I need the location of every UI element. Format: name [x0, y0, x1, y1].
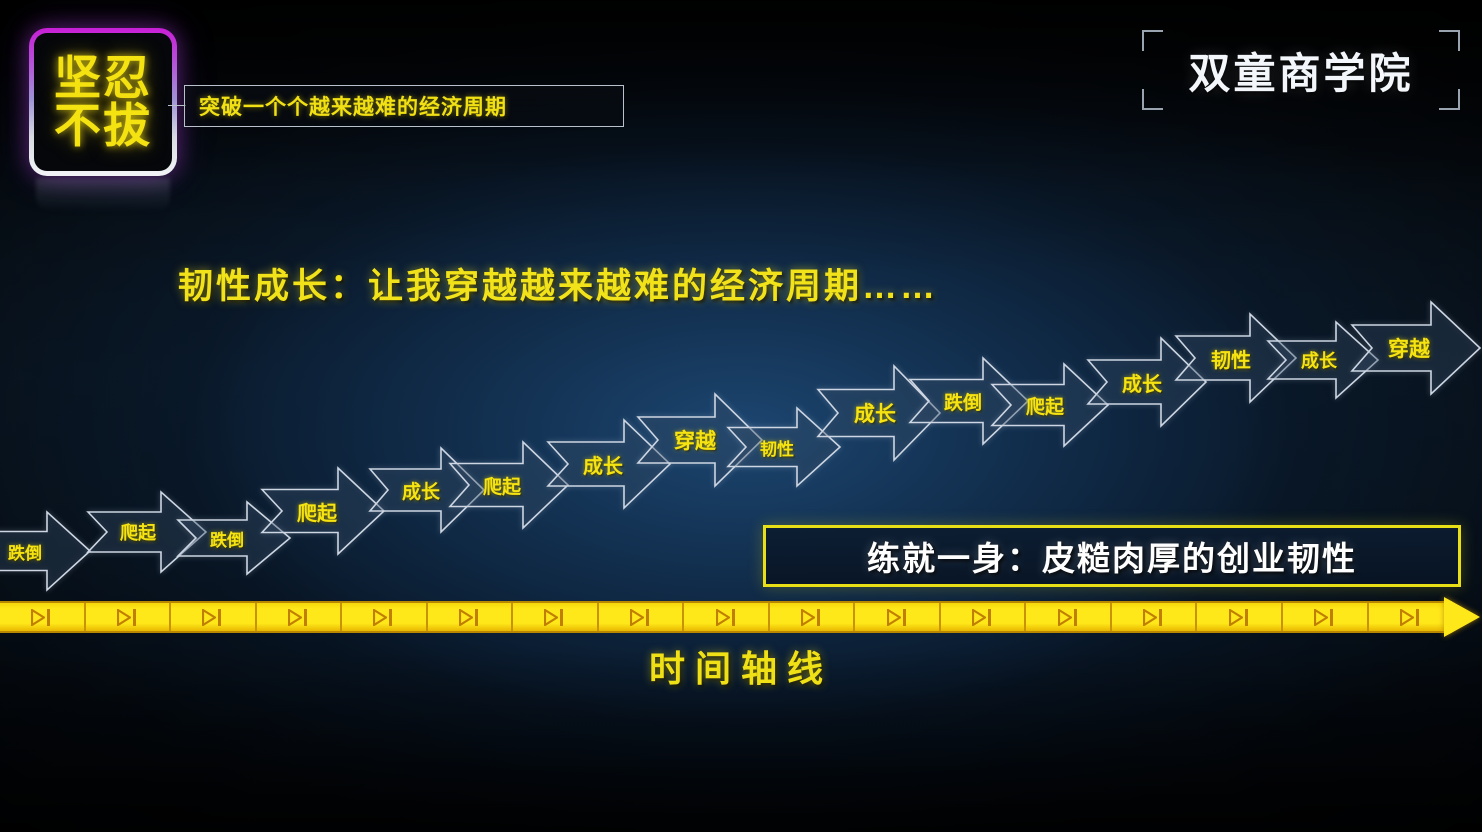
marker-bar-icon	[475, 609, 478, 626]
play-marker-icon	[1143, 609, 1164, 626]
marker-bar-icon	[1074, 609, 1077, 626]
triangle-icon	[1400, 609, 1414, 626]
timeline-segment	[941, 603, 1027, 631]
arrow-step: 穿越	[1352, 302, 1480, 394]
arrow-shape-icon	[1352, 302, 1480, 394]
badge-perseverance: 坚忍 不拔	[29, 28, 177, 176]
timeline-axis	[0, 601, 1482, 633]
arrow-shape-icon	[262, 468, 384, 554]
marker-bar-icon	[389, 609, 392, 626]
marker-bar-icon	[903, 609, 906, 626]
timeline-segment	[428, 603, 514, 631]
play-marker-icon	[972, 609, 993, 626]
arrow-step: 爬起	[262, 468, 384, 554]
triangle-icon	[972, 609, 986, 626]
timeline-bar	[0, 601, 1452, 633]
play-marker-icon	[1058, 609, 1079, 626]
badge-reflection	[36, 178, 170, 212]
triangle-icon	[459, 609, 473, 626]
timeline-segment	[342, 603, 428, 631]
badge-line-2: 不拔	[54, 102, 152, 150]
play-marker-icon	[716, 609, 737, 626]
play-marker-icon	[288, 609, 309, 626]
marker-bar-icon	[47, 609, 50, 626]
badge-inner: 坚忍 不拔	[34, 33, 172, 171]
timeline-segment	[599, 603, 685, 631]
callout-box: 练就一身：皮糙肉厚的创业韧性	[763, 525, 1461, 587]
marker-bar-icon	[1330, 609, 1333, 626]
play-marker-icon	[1314, 609, 1335, 626]
marker-bar-icon	[646, 609, 649, 626]
timeline-segment	[1369, 603, 1453, 631]
marker-bar-icon	[218, 609, 221, 626]
play-marker-icon	[630, 609, 651, 626]
timeline-segment	[0, 603, 86, 631]
timeline-segment	[855, 603, 941, 631]
play-marker-icon	[887, 609, 908, 626]
triangle-icon	[373, 609, 387, 626]
triangle-icon	[801, 609, 815, 626]
play-marker-icon	[459, 609, 480, 626]
play-marker-icon	[801, 609, 822, 626]
play-marker-icon	[1229, 609, 1250, 626]
play-marker-icon	[373, 609, 394, 626]
marker-bar-icon	[1416, 609, 1419, 626]
triangle-icon	[31, 609, 45, 626]
play-marker-icon	[31, 609, 52, 626]
triangle-icon	[117, 609, 131, 626]
timeline-arrowhead-icon	[1444, 597, 1480, 637]
arrow-step: 跌倒	[0, 512, 90, 590]
marker-bar-icon	[732, 609, 735, 626]
triangle-icon	[887, 609, 901, 626]
slide-canvas: 坚忍 不拔 突破一个个越来越难的经济周期 双童商学院 韧性成长：让我穿越越来越难…	[0, 0, 1482, 832]
triangle-icon	[288, 609, 302, 626]
badge-line-1: 坚忍	[54, 54, 152, 102]
play-marker-icon	[544, 609, 565, 626]
timeline-segment	[1197, 603, 1283, 631]
subtitle-bar: 突破一个个越来越难的经济周期	[184, 85, 624, 127]
timeline-segment	[86, 603, 172, 631]
brand-logo: 双童商学院	[1142, 30, 1460, 110]
triangle-icon	[630, 609, 644, 626]
timeline-segment	[770, 603, 856, 631]
brand-logo-text: 双童商学院	[1142, 30, 1460, 110]
marker-bar-icon	[304, 609, 307, 626]
timeline-segment	[171, 603, 257, 631]
subtitle-text: 突破一个个越来越难的经济周期	[199, 91, 507, 121]
marker-bar-icon	[560, 609, 563, 626]
marker-bar-icon	[133, 609, 136, 626]
callout-text: 练就一身：皮糙肉厚的创业韧性	[867, 532, 1357, 580]
triangle-icon	[1229, 609, 1243, 626]
marker-bar-icon	[817, 609, 820, 626]
play-marker-icon	[117, 609, 138, 626]
timeline-segment	[257, 603, 343, 631]
triangle-icon	[202, 609, 216, 626]
timeline-segment	[684, 603, 770, 631]
triangle-icon	[1143, 609, 1157, 626]
marker-bar-icon	[1159, 609, 1162, 626]
timeline-segment	[1283, 603, 1369, 631]
timeline-segment	[1112, 603, 1198, 631]
triangle-icon	[716, 609, 730, 626]
timeline-label: 时间轴线	[0, 640, 1482, 692]
play-marker-icon	[202, 609, 223, 626]
triangle-icon	[1314, 609, 1328, 626]
triangle-icon	[1058, 609, 1072, 626]
timeline-segment	[513, 603, 599, 631]
play-marker-icon	[1400, 609, 1421, 626]
triangle-icon	[544, 609, 558, 626]
arrow-shape-icon	[0, 512, 90, 590]
marker-bar-icon	[988, 609, 991, 626]
marker-bar-icon	[1245, 609, 1248, 626]
timeline-segment	[1026, 603, 1112, 631]
